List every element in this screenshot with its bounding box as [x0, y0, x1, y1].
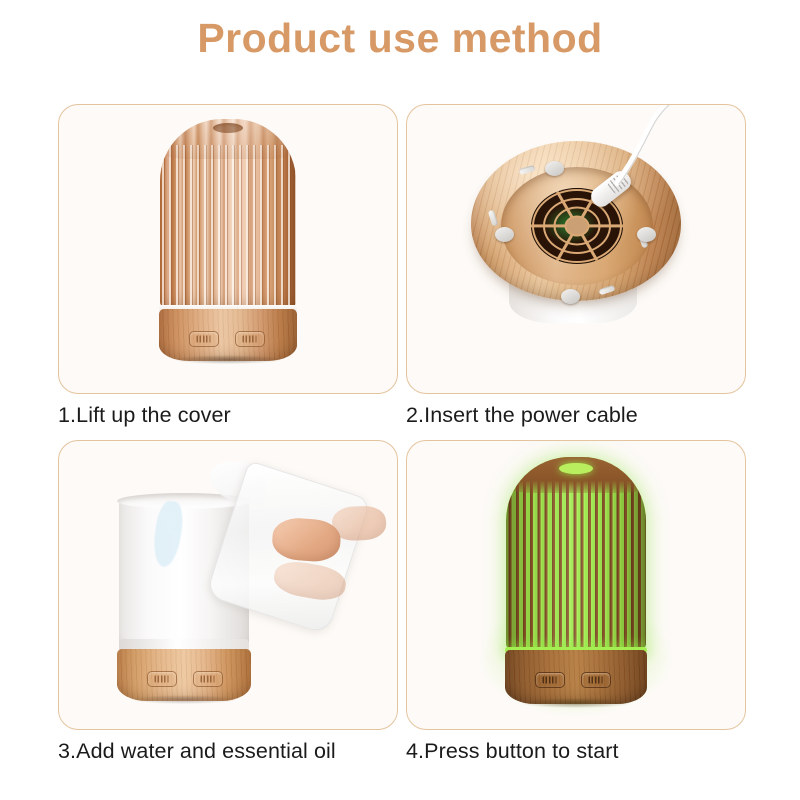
step-image-panel-1	[58, 104, 398, 394]
power-glyph-icon	[155, 676, 170, 683]
step-card-2: 2.Insert the power cable	[406, 104, 746, 428]
light-button-icon	[581, 672, 611, 688]
rubber-foot-icon	[495, 227, 514, 242]
diffuser-base-icon	[159, 309, 297, 361]
diffuser-base-icon	[505, 650, 647, 704]
diffuser-closed-illustration	[59, 105, 397, 393]
drop-shadow-icon	[131, 695, 237, 704]
step-card-4: 4.Press button to start	[406, 440, 746, 764]
cable-icon	[609, 109, 695, 193]
steps-grid: 1.Lift up the cover	[58, 104, 748, 776]
grille-hub-icon	[565, 216, 590, 237]
diffuser-body-icon	[506, 457, 646, 649]
diffuser-cover-icon	[471, 135, 681, 343]
mist-outlet-icon	[213, 123, 243, 133]
step-caption-2: 2.Insert the power cable	[406, 403, 746, 428]
light-glyph-icon	[589, 677, 604, 684]
light-glyph-icon	[201, 676, 216, 683]
power-glyph-icon	[197, 336, 212, 343]
step-caption-1: 1.Lift up the cover	[58, 403, 398, 428]
wood-grain-texture-icon	[159, 309, 297, 361]
drop-shadow-icon	[522, 698, 630, 708]
hand-icon	[271, 558, 348, 604]
diffuser-body-icon	[160, 119, 296, 307]
rubber-foot-icon	[561, 289, 580, 304]
rubber-foot-icon	[545, 161, 564, 176]
light-button-icon	[193, 671, 223, 687]
power-button-icon	[535, 672, 565, 688]
step-image-panel-4	[406, 440, 746, 730]
fill-water-illustration	[59, 441, 397, 729]
step-card-1: 1.Lift up the cover	[58, 104, 398, 428]
diffuser-unit-lit-icon	[506, 457, 646, 707]
diffuser-base-icon	[117, 649, 251, 701]
power-button-icon	[147, 671, 177, 687]
power-glyph-icon	[543, 677, 558, 684]
step-image-panel-3	[58, 440, 398, 730]
power-button-icon	[189, 331, 219, 347]
diffuser-running-illustration	[407, 441, 745, 729]
light-button-icon	[235, 331, 265, 347]
step-image-panel-2	[406, 104, 746, 394]
wood-grain-texture-icon	[505, 650, 647, 704]
mist-outlet-icon	[559, 463, 593, 474]
wood-grain-texture-icon	[117, 649, 251, 701]
wood-slats-icon	[160, 145, 296, 307]
product-instruction-page: Product use method	[0, 0, 800, 800]
rubber-foot-icon	[637, 227, 656, 242]
diffuser-cover-illustration	[407, 105, 745, 393]
diffuser-unit-icon	[160, 119, 296, 361]
page-title: Product use method	[0, 14, 800, 63]
step-card-3: 3.Add water and essential oil	[58, 440, 398, 764]
step-caption-3: 3.Add water and essential oil	[58, 739, 398, 764]
light-glyph-icon	[243, 336, 258, 343]
drop-shadow-icon	[174, 355, 282, 364]
fill-water-scene-icon	[99, 463, 359, 713]
step-caption-4: 4.Press button to start	[406, 739, 746, 764]
